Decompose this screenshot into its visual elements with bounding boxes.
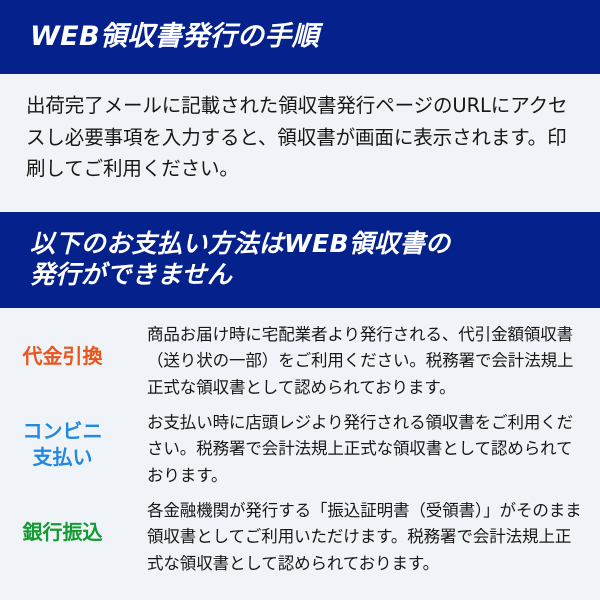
payment-method-list: 代金引換 商品お届け時に宅配業者より発行される、代引金額領収書（送り状の一部）を… — [0, 322, 600, 578]
payment-method-label-bank-transfer: 銀行振込 — [0, 498, 125, 546]
payment-method-row-cod: 代金引換 商品お届け時に宅配業者より発行される、代引金額領収書（送り状の一部）を… — [0, 322, 586, 401]
payment-method-label-convenience-store: コンビニ 支払い — [0, 410, 125, 470]
payment-method-description-convenience-store: お支払い時に店頭レジより発行される領収書をご利用ください。税務署で会計法規上正式… — [125, 410, 586, 489]
payment-method-description-cod: 商品お届け時に宅配業者より発行される、代引金額領収書（送り状の一部）をご利用くだ… — [125, 322, 586, 401]
notice-header-band: 以下のお支払い方法はWEB領収書の 発行ができません — [0, 212, 600, 308]
primary-header-band: WEB領収書発行の手順 — [0, 0, 600, 74]
payment-method-label-cod: 代金引換 — [0, 322, 125, 370]
payment-method-row-convenience-store: コンビニ 支払い お支払い時に店頭レジより発行される領収書をご利用ください。税務… — [0, 410, 586, 489]
intro-paragraph: 出荷完了メールに記載された領収書発行ページのURLにアクセスし必要事項を入力する… — [0, 74, 600, 185]
notice-title: 以下のお支払い方法はWEB領収書の 発行ができません — [30, 229, 600, 290]
receipt-guide-page: WEB領収書発行の手順 出荷完了メールに記載された領収書発行ページのURLにアク… — [0, 0, 600, 600]
payment-method-description-bank-transfer: 各金融機関が発行する「振込証明書（受領書）」がそのまま領収書としてご利用いただけ… — [125, 498, 586, 577]
page-title: WEB領収書発行の手順 — [30, 22, 600, 52]
payment-method-row-bank-transfer: 銀行振込 各金融機関が発行する「振込証明書（受領書）」がそのまま領収書としてご利… — [0, 498, 586, 577]
